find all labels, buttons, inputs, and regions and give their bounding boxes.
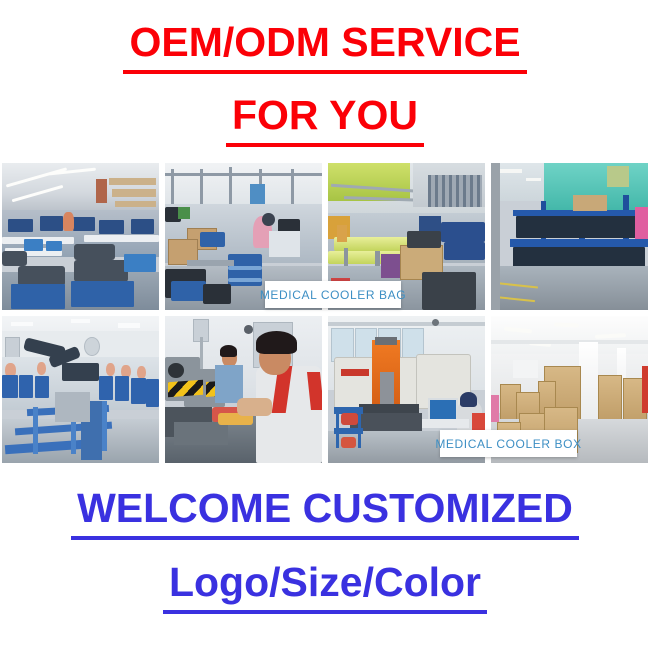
headline-line-1: OEM/ODM SERVICE [0, 0, 650, 74]
headline-line-1-text: OEM/ODM SERVICE [123, 22, 526, 74]
headline-line-2-text: FOR YOU [226, 95, 424, 147]
promo-banner: OEM/ODM SERVICE FOR YOU [0, 0, 650, 650]
headline-block: OEM/ODM SERVICE FOR YOU [0, 0, 650, 163]
caption-medical-cooler-box-text: MEDICAL COOLER BOX [435, 437, 581, 451]
caption-medical-cooler-bag: MEDICAL COOLER BAG [265, 281, 401, 308]
footer-line-1: WELCOME CUSTOMIZED [0, 466, 650, 540]
headline-line-2: FOR YOU [0, 74, 650, 147]
photo-sewing-workshop [2, 163, 159, 310]
caption-medical-cooler-box: MEDICAL COOLER BOX [440, 430, 577, 457]
photo-grid [0, 163, 650, 463]
photo-tooling-operator [165, 316, 322, 463]
footer-line-1-text: WELCOME CUSTOMIZED [71, 488, 579, 540]
caption-medical-cooler-bag-text: MEDICAL COOLER BAG [260, 288, 406, 302]
footer-block: WELCOME CUSTOMIZED Logo/Size/Color [0, 466, 650, 650]
photo-material-warehouse [491, 163, 648, 310]
footer-line-2-text: Logo/Size/Color [163, 562, 487, 614]
footer-line-2: Logo/Size/Color [0, 540, 650, 614]
photo-automated-line [2, 316, 159, 463]
